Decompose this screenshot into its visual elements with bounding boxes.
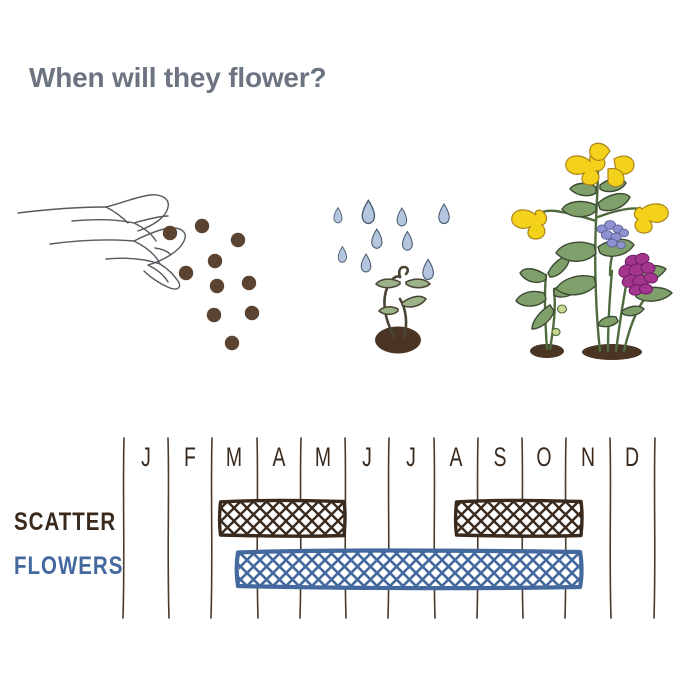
infographic-page: When will they flower? [0, 0, 700, 700]
hand-scattering-seeds-illustration [10, 185, 300, 360]
seedling [375, 267, 430, 354]
page-title: When will they flower? [29, 62, 326, 94]
flowering-calendar: J F M A M J J A S O N D SCATTER FLOWERS [0, 430, 700, 640]
seedling-in-rain-illustration [320, 185, 500, 365]
scatter-bar-autumn [456, 500, 582, 536]
raindrops [334, 200, 449, 279]
purple-clover-flower [617, 252, 659, 296]
seed-cluster [163, 219, 259, 350]
flowers-bar [237, 551, 582, 589]
scatter-bar-spring [220, 500, 345, 536]
row-label-scatter: SCATTER [14, 508, 99, 537]
wildflowers-illustration [490, 125, 700, 365]
row-label-flowers: FLOWERS [14, 552, 99, 581]
